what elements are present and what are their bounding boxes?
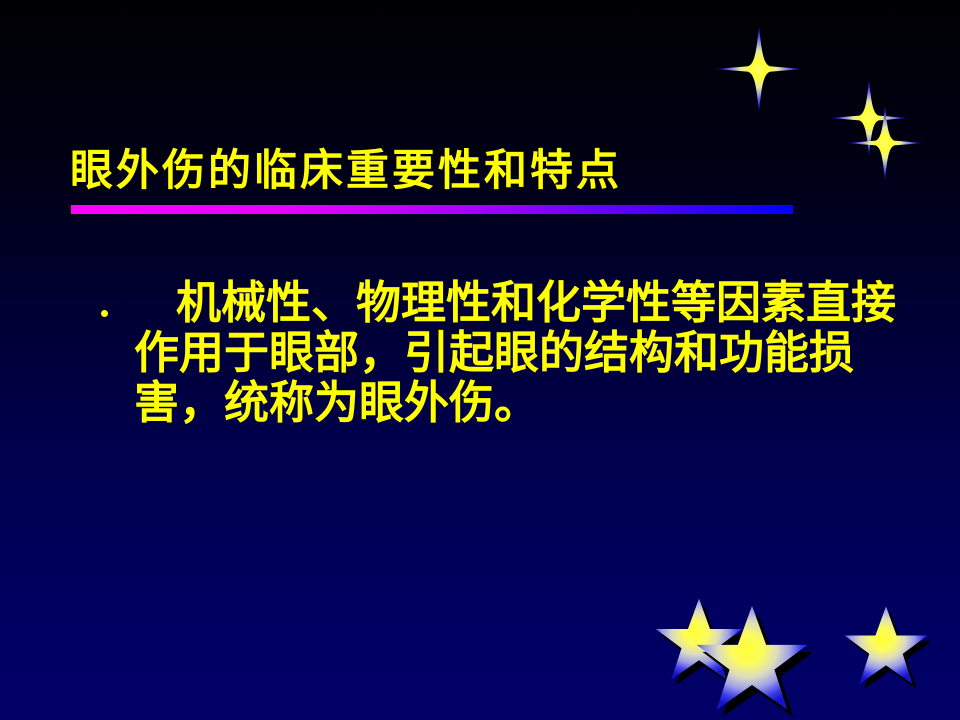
sparkle-icon-top-small [846, 104, 924, 182]
slide-title: 眼外伤的临床重要性和特点 [70, 146, 830, 196]
sparkle-icon-top-large [714, 24, 804, 114]
star-icon-bottom-small-left [653, 594, 745, 686]
bullet-point-marker [101, 310, 108, 317]
presentation-slide: 眼外伤的临床重要性和特点 机械性、物理性和化学性等因素直接作用于眼部，引起眼的结… [0, 0, 960, 720]
sparkle-icon-top-mid [829, 78, 909, 158]
star-icon-bottom-right [842, 602, 930, 690]
body-paragraph: 机械性、物理性和化学性等因素直接作用于眼部，引起眼的结构和功能损害，统称为眼外伤… [96, 278, 896, 428]
star-icon-bottom-large [693, 600, 811, 718]
body-content-block: 机械性、物理性和化学性等因素直接作用于眼部，引起眼的结构和功能损害，统称为眼外伤… [96, 278, 896, 428]
title-underline-rule [71, 205, 793, 214]
